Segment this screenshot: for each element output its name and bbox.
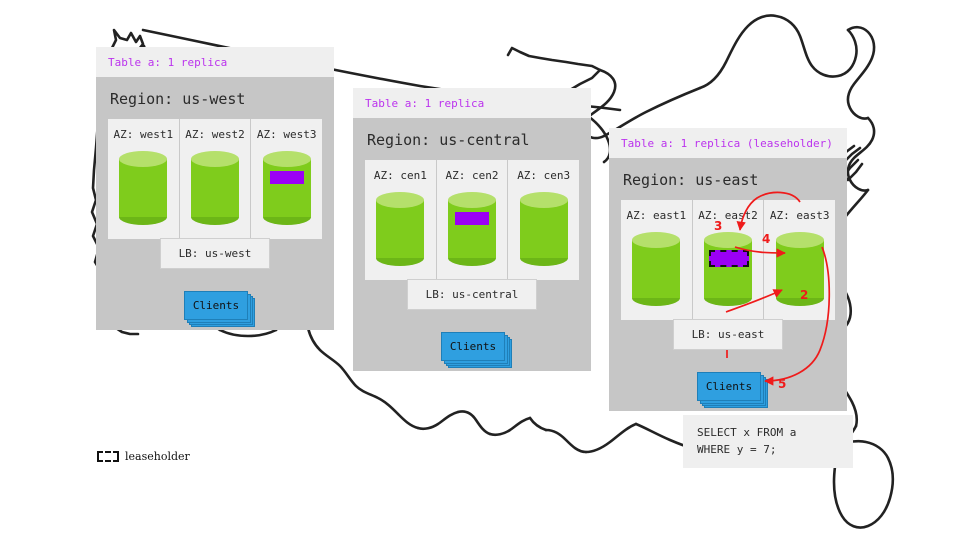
- leaseholder-swatch-icon: [97, 451, 119, 462]
- arrow-4: [735, 247, 785, 253]
- arrow-3: [740, 192, 800, 230]
- flow-step-label-3: 3: [714, 219, 722, 233]
- diagram-canvas: Table a: 1 replica Region: us-west AZ: w…: [0, 0, 960, 540]
- legend-leaseholder: leaseholder: [97, 450, 190, 463]
- legend-label: leaseholder: [125, 450, 190, 463]
- load-balancer-us-central[interactable]: LB: us-central: [407, 279, 538, 310]
- arrow-2: [726, 290, 782, 312]
- flow-step-label-5: 5: [778, 377, 786, 391]
- flow-step-label-2: 2: [800, 288, 808, 302]
- arrow-5: [765, 247, 829, 381]
- load-balancer-us-east[interactable]: LB: us-east: [673, 319, 784, 350]
- flow-step-label-4: 4: [762, 232, 770, 246]
- load-balancer-us-west[interactable]: LB: us-west: [160, 238, 271, 269]
